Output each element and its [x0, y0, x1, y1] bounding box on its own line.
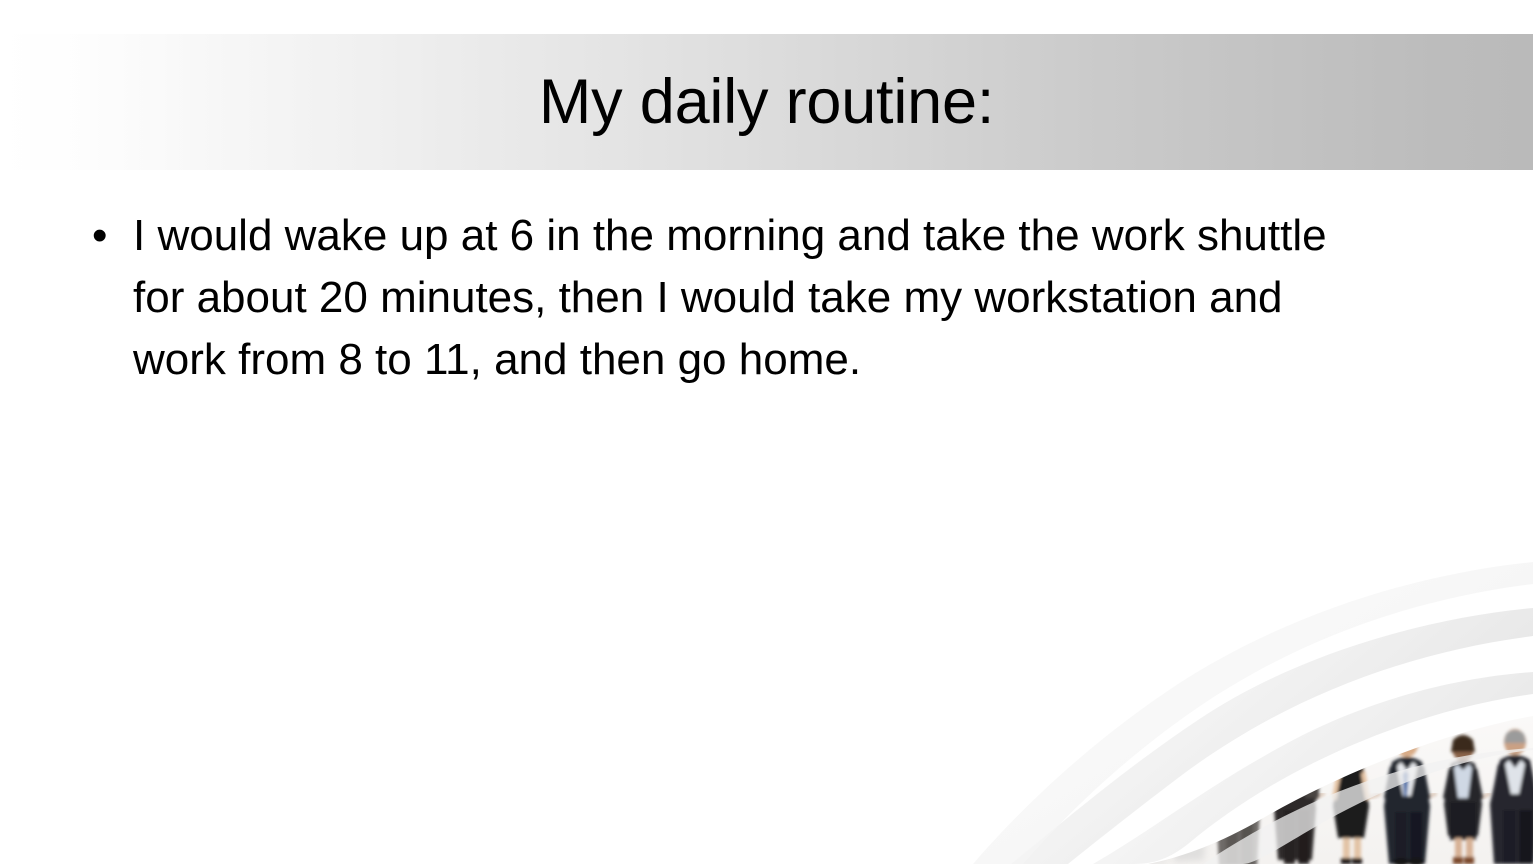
- page-title: My daily routine:: [0, 34, 1533, 170]
- decorative-image: [973, 544, 1533, 864]
- slide-canvas: My daily routine: • I would wake up at 6…: [0, 0, 1533, 864]
- list-item: • I would wake up at 6 in the morning an…: [78, 205, 1398, 391]
- list-item-text: I would wake up at 6 in the morning and …: [133, 205, 1378, 391]
- body-content: • I would wake up at 6 in the morning an…: [78, 205, 1398, 391]
- bullet-icon: •: [78, 205, 133, 267]
